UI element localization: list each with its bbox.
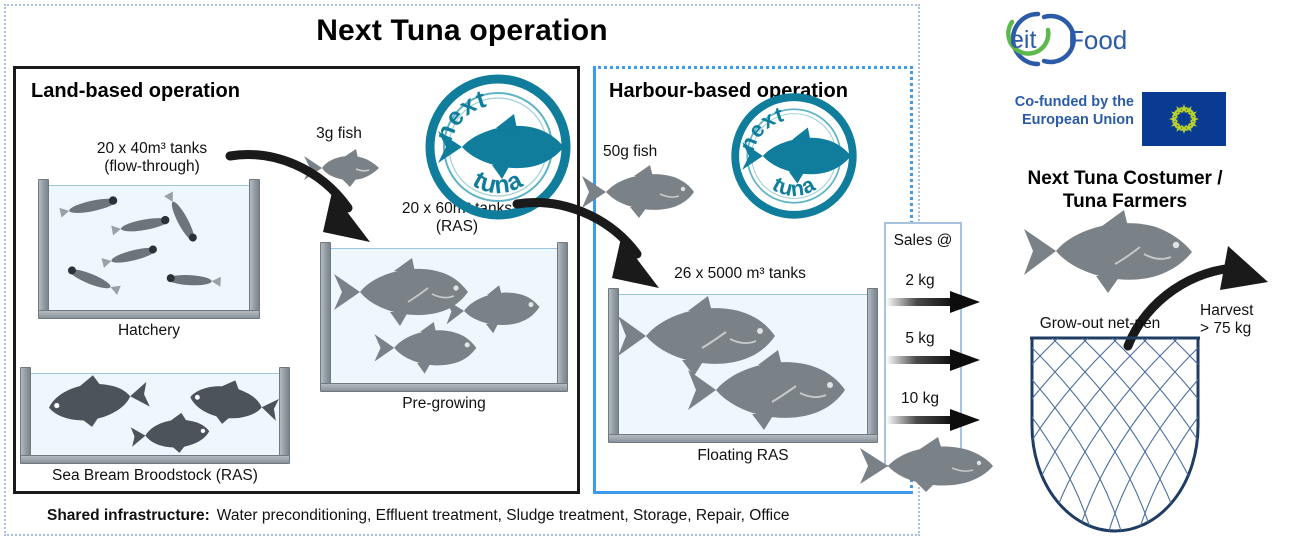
eu-funding-block: Co-funded by the European Union [988,92,1228,146]
next-tuna-logo-stamp-harbour: next tuna [730,92,858,220]
harvest-note: Harvest > 75 kg [1200,302,1290,339]
tank-post-left [320,242,331,384]
floating-ras-note: 26 x 5000 m³ tanks [650,265,830,283]
tank-base [38,310,260,319]
eu-funding-text: Co-funded by the European Union [988,94,1134,129]
larvae-group-icon [50,187,248,307]
sales-arrow-2kg-icon [886,291,980,313]
customer-title: Next Tuna Costumer / Tuna Farmers [975,168,1275,214]
tank-base [320,383,568,392]
sales-weight-label: 10 kg [884,390,956,408]
hatchery-caption: Hatchery [38,322,260,340]
sales-arrow-10kg-icon [886,409,980,431]
transfer-50g-label: 50g fish [603,143,713,161]
tank-base [20,455,290,464]
floating-ras-caption: Floating RAS [608,447,878,465]
hatchery-tank [38,179,260,319]
customer-title-line2: Tuna Farmers [975,191,1275,214]
shared-infrastructure-items: Water preconditioning, Effluent treatmen… [217,507,790,525]
shared-infrastructure-strip: Shared infrastructure: Water preconditio… [13,500,913,532]
tank-post-right [279,367,290,456]
sea-bream-group-icon [34,375,278,455]
pregrowing-caption: Pre-growing [320,395,568,413]
tank-post-left [38,179,49,311]
eu-funding-line2: European Union [988,112,1134,130]
netpen-caption: Grow-out net-pen [1005,315,1195,333]
customer-title-line1: Next Tuna Costumer / [975,168,1275,191]
page-title: Next Tuna operation [4,14,920,48]
eit-food-logo: eit Food [988,8,1168,70]
eu-flag-icon [1142,92,1226,146]
shared-infrastructure-label: Shared infrastructure: [47,507,210,525]
exit-tuna-icon [856,440,996,492]
broodstock-caption: Sea Bream Broodstock (RAS) [20,467,290,485]
land-panel-title: Land-based operation [31,80,240,103]
eit-food-wordmark: Food [1068,25,1127,55]
transfer-3g-label: 3g fish [290,125,388,143]
large-tuna-group-icon [622,298,864,430]
tank-post-left [20,367,31,456]
harvest-note-line1: Harvest [1200,302,1290,320]
grow-out-netpen-icon [1022,334,1208,538]
broodstock-tank [20,367,290,464]
sales-arrow-5kg-icon [886,349,980,371]
harvest-note-line2: > 75 kg [1200,320,1290,338]
tank-post-right [867,288,878,435]
eit-wordmark: eit [1010,26,1036,54]
tank-post-left [608,288,619,435]
sales-header: Sales @ [886,232,960,250]
hatchery-note: 20 x 40m³ tanks (flow-through) [62,140,242,175]
hatchery-note-line1: 20 x 40m³ tanks [62,140,242,158]
hatchery-note-line2: (flow-through) [62,158,242,176]
floating-ras-tank [608,288,878,443]
tank-base [608,434,878,443]
sales-weight-label: 5 kg [884,330,956,348]
eu-funding-line1: Co-funded by the [988,94,1134,112]
sales-weight-label: 2 kg [884,272,956,290]
